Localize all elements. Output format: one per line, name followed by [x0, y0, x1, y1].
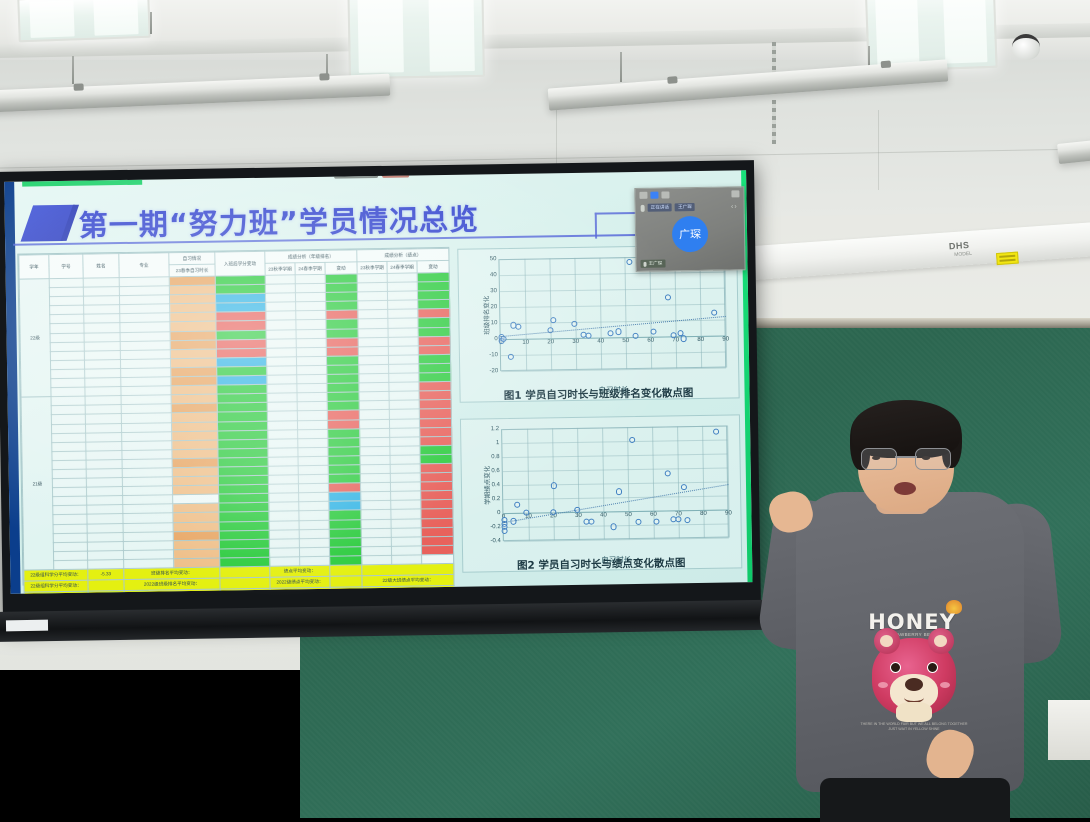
- avatar: 广琛: [672, 216, 709, 253]
- x-axis-tick: 40: [600, 512, 607, 518]
- light-suspension-wire: [72, 56, 74, 84]
- cell-rank-2024s: [295, 293, 325, 303]
- pendant-light: [1057, 140, 1090, 164]
- cell-rank-delta: [326, 301, 358, 311]
- cell-rank-2024s: [296, 338, 326, 348]
- participant-name-tag: 王广琛: [640, 259, 665, 267]
- cell-student-name: [88, 559, 124, 569]
- cell-rank-2023f: [267, 411, 297, 421]
- cell-gpa-2024s: [389, 382, 419, 392]
- cell-rank-2023f: [266, 302, 296, 312]
- cell-gpa-delta: [421, 500, 453, 510]
- y-axis-tick: 0.8: [491, 454, 499, 460]
- cell-rank-delta: [327, 383, 359, 393]
- cell-gpa-2023f: [357, 282, 387, 292]
- cell-gpa-delta: [421, 509, 453, 519]
- slide-edge-marker: [22, 180, 142, 187]
- participant-name: 王广琛: [648, 261, 662, 267]
- presenter: HONEY STRAWBERRY BEAR THERE IN THE WORLD…: [760, 400, 1090, 818]
- cell-rank-2023f: [269, 539, 299, 549]
- summary-cell: [330, 576, 362, 588]
- chart1-y-axis-label: 班级排名变化: [481, 296, 492, 335]
- cell-rank-2024s: [298, 429, 328, 439]
- cell-rank-2023f: [266, 338, 296, 348]
- y-axis-tick: 0.6: [491, 468, 499, 474]
- cell-gpa-2023f: [357, 292, 387, 302]
- cell-rank-2024s: [299, 538, 329, 548]
- cell-gpa-delta: [420, 463, 452, 473]
- y-axis-tick: -0.4: [490, 538, 500, 544]
- cell-rank-2024s: [299, 547, 329, 557]
- cell-rank-2023f: [270, 557, 300, 567]
- cell-gpa-2024s: [390, 482, 420, 492]
- summary-cell: [220, 566, 270, 578]
- bear-cheek-right: [940, 682, 950, 688]
- y-axis-tick: 50: [490, 256, 497, 262]
- cell-gpa-2024s: [391, 509, 421, 519]
- stop-share-label: 结束共享: [385, 170, 406, 176]
- cell-rank-delta: [326, 310, 358, 320]
- x-axis-tick: 30: [575, 513, 582, 519]
- summary-cell: 21级组科学分平均变动：: [24, 591, 88, 594]
- layout-speaker-icon[interactable]: [650, 192, 658, 199]
- cell-rank-2023f: [267, 384, 297, 394]
- summary-cell: 21级大班绩点平均变动：: [362, 585, 454, 593]
- cell-gpa-delta: [420, 482, 452, 492]
- cell-gpa-2023f: [358, 301, 388, 311]
- y-axis-tick: 10: [491, 320, 498, 326]
- cell-gpa-2024s: [389, 391, 419, 401]
- share-indicator-icon: [337, 172, 341, 176]
- cell-gpa-2023f: [360, 482, 390, 492]
- cell-gpa-delta: [421, 518, 453, 528]
- speaker-name-badge: 王广琛: [675, 203, 695, 211]
- light-chain: [772, 100, 776, 144]
- cell-gpa-2024s: [390, 473, 420, 483]
- cell-gpa-2023f: [358, 310, 388, 320]
- cell-rank-2023f: [268, 466, 298, 476]
- x-axis-tick: 20: [547, 339, 554, 345]
- projection-screen: 正在共享屏幕 结束共享 第一期“努力班”学员情况总览: [0, 160, 761, 624]
- smoke-detector-icon: [1012, 34, 1040, 60]
- cell-rank-2023f: [266, 357, 296, 367]
- ceiling-light-fixture: [347, 0, 485, 79]
- x-axis-tick: 80: [697, 337, 704, 343]
- cell-gpa-delta: [420, 427, 452, 437]
- cell-rank-2023f: [267, 375, 297, 385]
- cell-rank-delta: [326, 328, 358, 338]
- chart2-caption: 图2 学员自习时长与绩点变化散点图: [462, 554, 740, 573]
- cell-rank-delta: [325, 292, 357, 302]
- cell-gpa-delta: [418, 327, 450, 337]
- wall-panel-seam: [878, 110, 879, 190]
- cell-gpa-2024s: [388, 309, 418, 319]
- th-student-name: 姓名: [83, 254, 119, 279]
- cell-rank-delta: [328, 428, 360, 438]
- cell-rank-2024s: [298, 456, 328, 466]
- microphone-icon[interactable]: [641, 204, 645, 211]
- sharing-status-label: 正在共享屏幕: [343, 170, 375, 177]
- housing-model-label: MODEL: [954, 251, 972, 258]
- cell-rank-2024s: [295, 283, 325, 293]
- th-gpa-term-2024s: 24春季学期: [387, 261, 417, 273]
- chart2-plot-area: 学期绩点变化 0102030405060708090-0.4-0.200.20.…: [501, 426, 729, 542]
- x-axis-tick: 40: [597, 338, 604, 344]
- chart1-caption: 图1 学员自习时长与班级排名变化散点图: [459, 384, 737, 403]
- cell-rank-2024s: [296, 311, 326, 321]
- cell-gpa-2024s: [390, 427, 420, 437]
- cell-rank-2023f: [268, 448, 298, 458]
- cell-gpa-delta: [419, 372, 451, 382]
- cell-gpa-2024s: [391, 537, 421, 547]
- cell-gpa-2023f: [361, 510, 391, 520]
- y-axis-tick: -10: [489, 352, 498, 358]
- cell-gpa-2023f: [359, 392, 389, 402]
- classroom-scene: DHS MODEL 正在共享屏幕 结束共享: [0, 0, 1090, 818]
- y-axis-tick: -20: [489, 368, 498, 374]
- th-grade-year: 学年: [19, 255, 49, 279]
- cell-rank-2024s: [298, 465, 328, 475]
- summary-cell: [88, 591, 124, 594]
- y-axis-tick: 20: [490, 304, 497, 310]
- cell-rank-2023f: [269, 511, 299, 521]
- th-credit-change: 入班后学分变动: [215, 251, 265, 276]
- x-axis-tick: 60: [650, 512, 657, 518]
- cell-gpa-2023f: [359, 401, 389, 411]
- cell-gpa-2023f: [361, 528, 391, 538]
- cell-gpa-2023f: [361, 519, 391, 529]
- cell-rank-delta: [327, 401, 359, 411]
- cell-gpa-2023f: [359, 382, 389, 392]
- cell-gpa-2024s: [391, 546, 421, 556]
- th-rank-term-2023f: 23秋季学期: [265, 263, 295, 275]
- stop-share-button[interactable]: 结束共享: [382, 170, 409, 178]
- cell-rank-2024s: [297, 402, 327, 412]
- cell-gpa-2024s: [388, 327, 418, 337]
- cell-rank-2023f: [268, 429, 298, 439]
- cell-gpa-delta: [419, 363, 451, 373]
- cell-gpa-2024s: [388, 318, 418, 328]
- mic-small-icon: [643, 261, 646, 266]
- cell-rank-2024s: [298, 447, 328, 457]
- screen-share-toolbar[interactable]: 正在共享屏幕 结束共享: [334, 170, 409, 179]
- y-axis-tick: 0: [497, 510, 500, 516]
- cell-gpa-2023f: [358, 328, 388, 338]
- bear-belly: [896, 702, 932, 722]
- ceiling-light-fixture: [17, 0, 150, 42]
- th-study-hours: 23春季自习时长: [169, 264, 215, 277]
- cell-rank-2023f: [267, 402, 297, 412]
- cell-gpa-2024s: [388, 355, 418, 365]
- cell-gpa-2024s: [391, 527, 421, 537]
- cell-gpa-2024s: [391, 518, 421, 528]
- cell-gpa-delta: [419, 391, 451, 401]
- warning-sticker: [996, 252, 1019, 266]
- th-major: 专业: [119, 253, 169, 278]
- cell-gpa-2024s: [390, 464, 420, 474]
- cell-gpa-2024s: [387, 273, 417, 283]
- th-student-id: 学号: [49, 254, 83, 279]
- cell-gpa-2024s: [390, 455, 420, 465]
- bear-ear-left: [874, 628, 900, 654]
- cell-gpa-2023f: [359, 410, 389, 420]
- cell-gpa-2023f: [358, 355, 388, 365]
- cell-gpa-2024s: [387, 291, 417, 301]
- cell-gpa-delta: [418, 354, 450, 364]
- th-rank-term-2024s: 24春季学期: [295, 262, 325, 274]
- cell-rank-2024s: [298, 483, 328, 493]
- minimize-icon[interactable]: [639, 192, 647, 199]
- cell-rank-delta: [326, 319, 358, 329]
- student-overview-table: 学年 学号 姓名 专业 自习情况 入班后学分变动 成绩分析（年级排名） 成绩分析…: [17, 247, 454, 586]
- cell-gpa-2023f: [360, 437, 390, 447]
- cell-rank-2023f: [269, 493, 299, 503]
- cell-rank-2024s: [299, 511, 329, 521]
- cell-gpa-2024s: [389, 364, 419, 374]
- cell-gpa-2023f: [362, 555, 392, 565]
- cell-rank-2024s: [297, 420, 327, 430]
- mouth: [894, 482, 916, 495]
- cell-gpa-delta: [420, 472, 452, 482]
- cell-gpa-2023f: [360, 455, 390, 465]
- cell-gpa-2024s: [391, 500, 421, 510]
- cell-rank-2024s: [296, 329, 326, 339]
- cell-major: [124, 559, 174, 569]
- cell-rank-delta: [325, 283, 357, 293]
- y-axis-tick: 1.2: [491, 426, 499, 432]
- y-axis-tick: 0.2: [492, 496, 500, 502]
- cell-rank-2023f: [265, 275, 295, 285]
- th-gpa-delta: 变动: [417, 260, 449, 273]
- scatter-chart-gpa: 学期绩点变化 0102030405060708090-0.4-0.200.20.…: [460, 414, 742, 572]
- cell-student-id: [54, 560, 88, 570]
- cell-rank-2024s: [299, 502, 329, 512]
- cell-gpa-2024s: [387, 282, 417, 292]
- webcam-overlay-panel[interactable]: 正在讲话 王广琛 ‹› 广琛 王广琛: [634, 186, 745, 272]
- cell-gpa-2023f: [360, 446, 390, 456]
- x-axis-tick: 50: [625, 512, 632, 518]
- cell-rank-delta: [328, 438, 360, 448]
- right-lens: [915, 448, 951, 470]
- cell-gpa-2023f: [359, 364, 389, 374]
- lotso-bear-graphic: [872, 638, 956, 716]
- bear-nose: [905, 678, 923, 691]
- webcam-controls[interactable]: [639, 191, 669, 198]
- cell-gpa-delta: [420, 454, 452, 464]
- th-gpa-term-2023f: 23秋季学期: [357, 261, 387, 273]
- cell-gpa-2023f: [360, 464, 390, 474]
- cell-gpa-delta: [420, 436, 452, 446]
- x-axis-tick: 80: [700, 511, 707, 517]
- cell-rank-2023f: [265, 293, 295, 303]
- cell-rank-2024s: [297, 374, 327, 384]
- cell-gpa-2024s: [389, 373, 419, 383]
- more-options-icon[interactable]: ‹›: [731, 203, 738, 210]
- expand-icon[interactable]: [731, 190, 739, 197]
- summary-cell: [220, 588, 270, 594]
- cell-rank-2023f: [267, 366, 297, 376]
- chart2-y-axis-label: 学期绩点变化: [481, 466, 492, 505]
- cell-gpa-delta: [419, 382, 451, 392]
- cell-gpa-2024s: [389, 409, 419, 419]
- cell-rank-delta: [328, 447, 360, 457]
- cell-rank-delta: [329, 501, 361, 511]
- cell-rank-delta: [327, 419, 359, 429]
- summary-cell: [330, 565, 362, 577]
- cell-rank-2024s: [297, 393, 327, 403]
- x-axis-tick: 50: [622, 338, 629, 344]
- left-lens: [861, 448, 897, 470]
- cell-rank-2023f: [265, 284, 295, 294]
- cell-rank-delta: [329, 510, 361, 520]
- cell-rank-2023f: [266, 329, 296, 339]
- table-body: 22级21级22级组科学分平均变动：-5.33班级排名平均变动：绩点平均变动：2…: [19, 272, 454, 593]
- y-axis-tick: -0.2: [490, 524, 500, 530]
- cell-rank-delta: [328, 465, 360, 475]
- glasses: [860, 448, 952, 468]
- summary-cell: -0.12: [330, 587, 362, 594]
- cell-rank-delta: [328, 456, 360, 466]
- screen-side-label: [6, 620, 48, 632]
- cell-gpa-delta: [418, 336, 450, 346]
- x-axis-tick: 90: [722, 337, 729, 343]
- grade-group-label: 22级: [19, 279, 51, 398]
- shirt-subtext: STRAWBERRY BEAR: [852, 632, 972, 637]
- cell-gpa-2023f: [361, 537, 391, 547]
- y-axis-tick: 40: [490, 272, 497, 278]
- cell-rank-2024s: [299, 520, 329, 530]
- cell-gpa-2023f: [359, 419, 389, 429]
- light-suspension-wire: [150, 12, 152, 34]
- y-axis-tick: 30: [490, 288, 497, 294]
- y-axis-tick: 0.4: [492, 482, 500, 488]
- y-axis-tick: 0: [494, 336, 497, 342]
- cell-gpa-2023f: [360, 473, 390, 483]
- y-axis-tick: 1: [496, 440, 499, 446]
- cell-gpa-2023f: [358, 346, 388, 356]
- cell-gpa-2024s: [388, 300, 418, 310]
- cell-rank-2023f: [268, 475, 298, 485]
- cell-rank-delta: [325, 274, 357, 284]
- cell-rank-delta: [329, 519, 361, 529]
- cell-rank-2023f: [266, 311, 296, 321]
- summary-cell: -5.33: [88, 569, 124, 581]
- cell-gpa-2024s: [389, 400, 419, 410]
- cell-rank-2024s: [297, 411, 327, 421]
- cell-gpa-2024s: [388, 337, 418, 347]
- cell-rank-delta: [329, 547, 361, 557]
- summary-cell: 2021级班级排名平均变动：: [124, 589, 220, 594]
- cell-rank-2024s: [296, 320, 326, 330]
- cell-gpa-2024s: [392, 555, 422, 565]
- cell-rank-2023f: [269, 520, 299, 530]
- cell-gpa-delta: [418, 309, 450, 319]
- sharing-status-pill: 正在共享屏幕: [334, 170, 378, 178]
- th-study-status: 自习情况: [169, 252, 215, 265]
- x-axis-tick: 60: [647, 338, 654, 344]
- cell-gpa-delta: [420, 445, 452, 455]
- cell-rank-delta: [329, 538, 361, 548]
- cell-rank-delta: [329, 528, 361, 538]
- cell-rank-2023f: [268, 457, 298, 467]
- light-suspension-wire: [620, 52, 622, 82]
- cell-gpa-2023f: [361, 501, 391, 511]
- cell-gpa-2023f: [359, 373, 389, 383]
- cell-rank-2023f: [266, 348, 296, 358]
- summary-cell: [220, 577, 270, 589]
- cell-rank-2023f: [267, 393, 297, 403]
- cell-gpa-2024s: [390, 446, 420, 456]
- shirt-honey-text: HONEY: [852, 610, 972, 634]
- x-axis-tick: 30: [572, 339, 579, 345]
- cell-gpa-2023f: [358, 337, 388, 347]
- cell-gpa-2024s: [391, 491, 421, 501]
- cell-gpa-2024s: [388, 346, 418, 356]
- cell-rank-2023f: [268, 484, 298, 494]
- layout-grid-icon[interactable]: [661, 191, 669, 198]
- cell-gpa-2023f: [360, 428, 390, 438]
- chart1-plot-area: 班级排名变化 0102030405060708090-20-1001020304…: [498, 256, 726, 372]
- cell-rank-2023f: [267, 420, 297, 430]
- cell-rank-2024s: [298, 474, 328, 484]
- pants: [820, 778, 1010, 822]
- cell-gpa-2023f: [357, 273, 387, 283]
- cell-rank-2024s: [299, 493, 329, 503]
- x-axis-tick: 90: [725, 510, 732, 516]
- speaking-status-badge: 正在讲话: [648, 203, 673, 211]
- cell-rank-delta: [327, 410, 359, 420]
- cell-rank-2024s: [295, 274, 325, 284]
- cell-rank-delta: [330, 556, 362, 566]
- grade-group-label: 21级: [21, 397, 54, 570]
- housing-brand-label: DHS: [949, 240, 970, 251]
- cell-rank-2024s: [296, 302, 326, 312]
- cell-rank-2024s: [297, 365, 327, 375]
- cell-rank-delta: [327, 392, 359, 402]
- cell-gpa-2023f: [361, 546, 391, 556]
- cell-rank-2024s: [297, 383, 327, 393]
- bear-ear-right: [928, 628, 954, 654]
- cell-gpa-2023f: [361, 492, 391, 502]
- cell-gpa-delta: [422, 554, 454, 564]
- cell-rank-2023f: [269, 548, 299, 558]
- cell-rank-delta: [326, 337, 358, 347]
- cell-gpa-2024s: [389, 418, 419, 428]
- webcam-speaker-row: 正在讲话 王广琛: [641, 203, 695, 212]
- cell-rank-2023f: [269, 529, 299, 539]
- cell-rank-2023f: [268, 438, 298, 448]
- cell-rank-delta: [327, 374, 359, 384]
- glasses-bridge: [895, 456, 917, 458]
- x-axis-tick: 10: [522, 340, 529, 346]
- cell-rank-2024s: [298, 438, 328, 448]
- bear-eye-left: [890, 662, 901, 673]
- cell-rank-2024s: [299, 529, 329, 539]
- cell-rank-2023f: [269, 502, 299, 512]
- cell-gpa-2024s: [390, 437, 420, 447]
- bear-eye-right: [927, 662, 938, 673]
- bear-cheek-left: [878, 682, 888, 688]
- cell-gpa-2023f: [358, 319, 388, 329]
- summary-cell: 2021级绩点平均变动：: [270, 587, 330, 594]
- th-rank-delta: 变动: [325, 262, 357, 275]
- summary-cell: [88, 580, 124, 592]
- cell-rank-2024s: [296, 347, 326, 357]
- cell-gpa-delta: [421, 491, 453, 501]
- presentation-slide: 正在共享屏幕 结束共享 第一期“努力班”学员情况总览: [4, 170, 752, 594]
- cell-rank-2024s: [296, 356, 326, 366]
- cell-rank-2023f: [266, 320, 296, 330]
